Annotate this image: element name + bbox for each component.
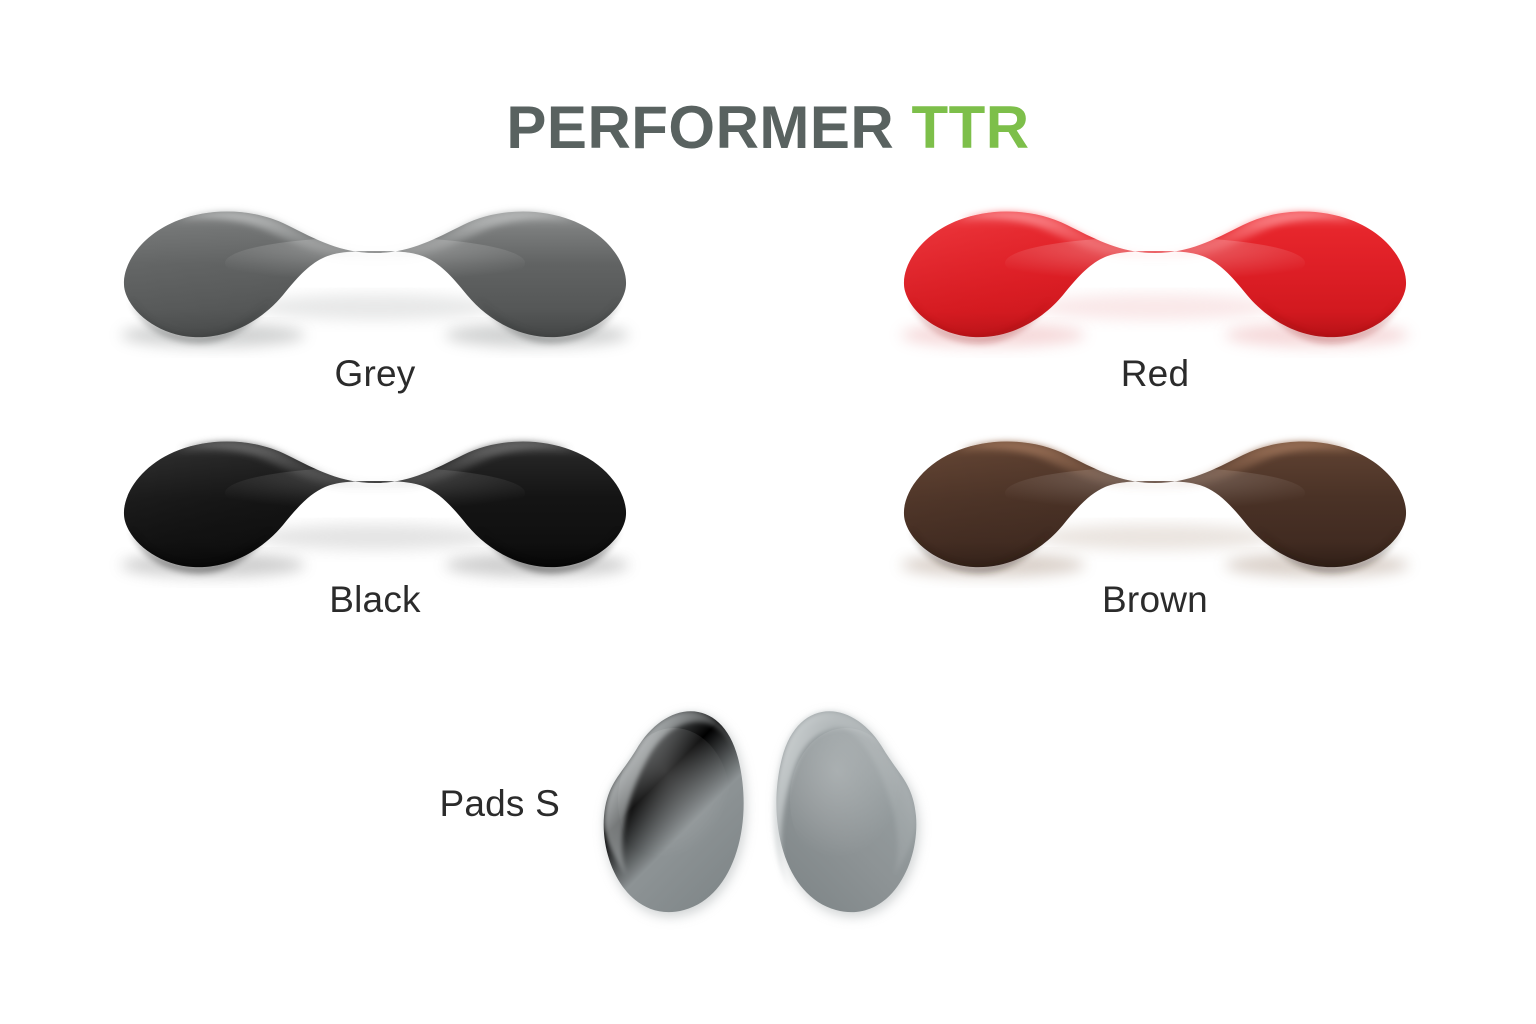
nose-pads-image bbox=[570, 680, 950, 930]
product-catalog-page: PERFORMER TTR bbox=[0, 0, 1536, 1024]
product-pads[interactable]: Pads S bbox=[0, 0, 1536, 1024]
product-label-pads: Pads S bbox=[330, 785, 560, 822]
